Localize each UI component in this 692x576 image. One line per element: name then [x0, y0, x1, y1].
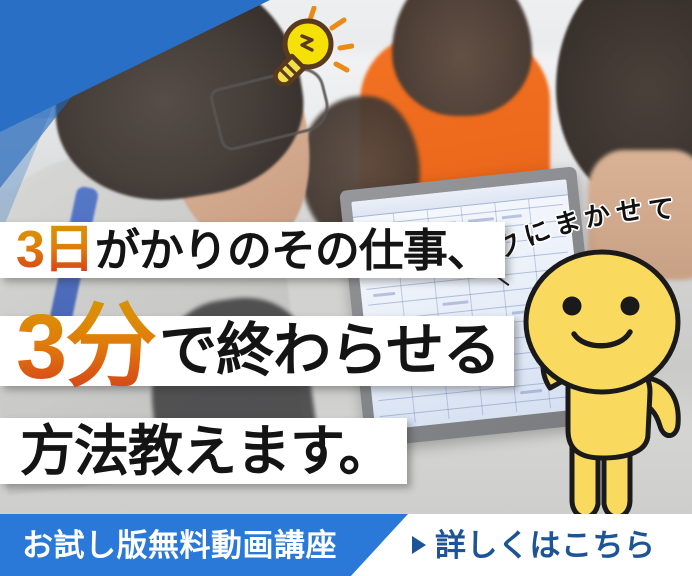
headline-line-3-text: 方法教えます。 [20, 424, 393, 479]
headline-line-2: 3分 で終わらせる [0, 316, 514, 386]
lightbulb-icon [262, 6, 354, 86]
promo-banner: ボ ク に ま か せ て [0, 0, 692, 576]
headline-line-3: 方法教えます。 [0, 418, 407, 484]
headline-accent-wrap: 3分 [16, 305, 159, 397]
headline-accent-3min: 3分 [16, 296, 157, 398]
headline-line-1: 3日 がかりのその仕事、 [0, 222, 505, 278]
cta-primary-button[interactable]: お試し版無料動画講座 [0, 514, 408, 576]
yellow-mascot-character [498, 238, 692, 534]
cta-details-link[interactable]: 詳しくはこちら [412, 514, 656, 576]
photo-person-orange-hair [392, 0, 532, 116]
cta-primary-label: お試し版無料動画講座 [22, 530, 337, 561]
cta-details-label: 詳しくはこちら [435, 530, 656, 561]
play-triangle-icon [412, 536, 426, 554]
cta-bar: お試し版無料動画講座 詳しくはこちら [0, 514, 692, 576]
headline-line-1-text: がかりのその仕事、 [95, 228, 491, 273]
headline-accent-3days: 3日 [16, 224, 95, 276]
headline-line-2-text: で終わらせる [159, 322, 500, 380]
